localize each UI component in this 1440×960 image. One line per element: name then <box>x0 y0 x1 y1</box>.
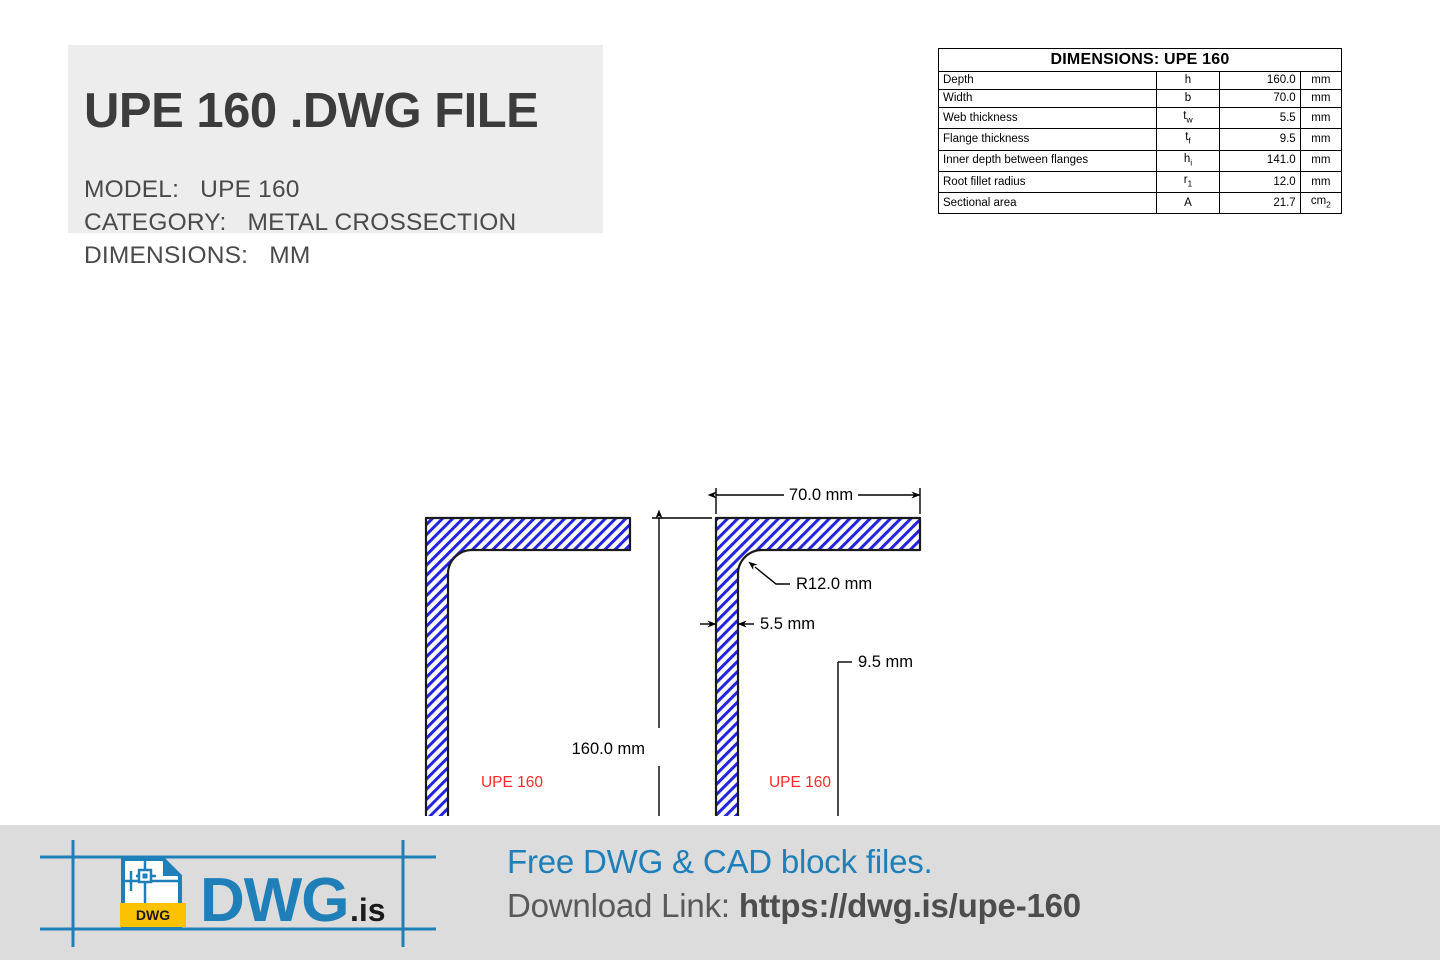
page-title: UPE 160 .DWG FILE <box>84 87 538 136</box>
row-value: 141.0 <box>1219 150 1300 171</box>
technical-drawing: 70.0 mm 160.0 mm R12.0 mm 5.5 <box>0 236 1000 816</box>
right-profile-caption: UPE 160 <box>769 774 831 791</box>
row-unit: mm <box>1300 108 1341 129</box>
table-row: Web thicknesstw5.5mm <box>939 108 1342 129</box>
row-symbol: A <box>1157 193 1220 214</box>
row-unit: mm <box>1300 171 1341 192</box>
dwg-badge-label: DWG <box>136 907 170 923</box>
row-value: 160.0 <box>1219 72 1300 90</box>
row-unit: mm <box>1300 150 1341 171</box>
title-card: UPE 160 .DWG FILE MODEL: UPE 160 CATEGOR… <box>68 45 603 233</box>
row-symbol: r1 <box>1157 171 1220 192</box>
logo-wordmark-suffix: .is <box>350 892 386 928</box>
dimension-radius: R12.0 mm <box>755 567 872 593</box>
table-body: Depthh160.0mmWidthb70.0mmWeb thicknesstw… <box>939 72 1342 214</box>
dimension-width: 70.0 mm <box>716 486 920 514</box>
dimension-flange-label: 9.5 mm <box>858 653 913 671</box>
row-property-name: Width <box>939 90 1157 108</box>
dimension-depth: 160.0 mm <box>572 518 712 816</box>
page-canvas: UPE 160 .DWG FILE MODEL: UPE 160 CATEGOR… <box>0 0 1440 960</box>
dimension-web-label: 5.5 mm <box>760 615 815 633</box>
model-line: MODEL: UPE 160 <box>84 176 300 204</box>
model-value: UPE 160 <box>200 176 299 203</box>
dwg-logo[interactable]: DWG DWG .is <box>28 825 448 960</box>
table-title-row: DIMENSIONS: UPE 160 <box>939 49 1342 72</box>
row-symbol: b <box>1157 90 1220 108</box>
row-property-name: Depth <box>939 72 1157 90</box>
dimension-depth-label: 160.0 mm <box>572 740 645 758</box>
dimension-radius-label: R12.0 mm <box>796 575 872 593</box>
row-value: 12.0 <box>1219 171 1300 192</box>
row-symbol: h <box>1157 72 1220 90</box>
row-unit: mm <box>1300 129 1341 150</box>
download-label: Download Link: <box>507 887 730 924</box>
table-title: DIMENSIONS: UPE 160 <box>939 49 1342 72</box>
row-symbol: tw <box>1157 108 1220 129</box>
table-row: Inner depth between flangeshi141.0mm <box>939 150 1342 171</box>
row-value: 5.5 <box>1219 108 1300 129</box>
logo-wordmark: DWG <box>200 866 349 935</box>
dimensions-table: DIMENSIONS: UPE 160 Depthh160.0mmWidthb7… <box>938 48 1342 214</box>
row-unit: mm <box>1300 90 1341 108</box>
dimension-flange: 9.5 mm <box>838 653 913 816</box>
table-row: Flange thicknesstf9.5mm <box>939 129 1342 150</box>
category-line: CATEGORY: METAL CROSSECTION <box>84 209 516 237</box>
table-row: Root fillet radiusr112.0mm <box>939 171 1342 192</box>
model-label: MODEL: <box>84 176 179 203</box>
table-row: Sectional areaA21.7cm2 <box>939 193 1342 214</box>
row-symbol: hi <box>1157 150 1220 171</box>
left-profile-caption: UPE 160 <box>481 774 543 791</box>
row-property-name: Root fillet radius <box>939 171 1157 192</box>
category-label: CATEGORY: <box>84 209 226 236</box>
footer-text-block: Free DWG & CAD block files. Download Lin… <box>507 825 1407 960</box>
footer-download-line: Download Link: https://dwg.is/upe-160 <box>507 887 1081 925</box>
row-property-name: Sectional area <box>939 193 1157 214</box>
row-property-name: Web thickness <box>939 108 1157 129</box>
row-unit: cm2 <box>1300 193 1341 214</box>
row-unit: mm <box>1300 72 1341 90</box>
row-property-name: Flange thickness <box>939 129 1157 150</box>
row-symbol: tf <box>1157 129 1220 150</box>
category-value: METAL CROSSECTION <box>248 209 517 236</box>
left-profile-section <box>426 518 630 816</box>
dwg-file-icon: DWG <box>120 859 186 927</box>
download-url[interactable]: https://dwg.is/upe-160 <box>739 887 1081 924</box>
footer-tagline: Free DWG & CAD block files. <box>507 843 933 881</box>
dimension-width-label: 70.0 mm <box>789 486 853 504</box>
row-value: 70.0 <box>1219 90 1300 108</box>
table-row: Widthb70.0mm <box>939 90 1342 108</box>
row-value: 21.7 <box>1219 193 1300 214</box>
footer-bar: DWG DWG .is Free DWG & CAD block files. … <box>0 825 1440 960</box>
left-profile-outline <box>426 518 630 816</box>
table-row: Depthh160.0mm <box>939 72 1342 90</box>
row-property-name: Inner depth between flanges <box>939 150 1157 171</box>
row-value: 9.5 <box>1219 129 1300 150</box>
